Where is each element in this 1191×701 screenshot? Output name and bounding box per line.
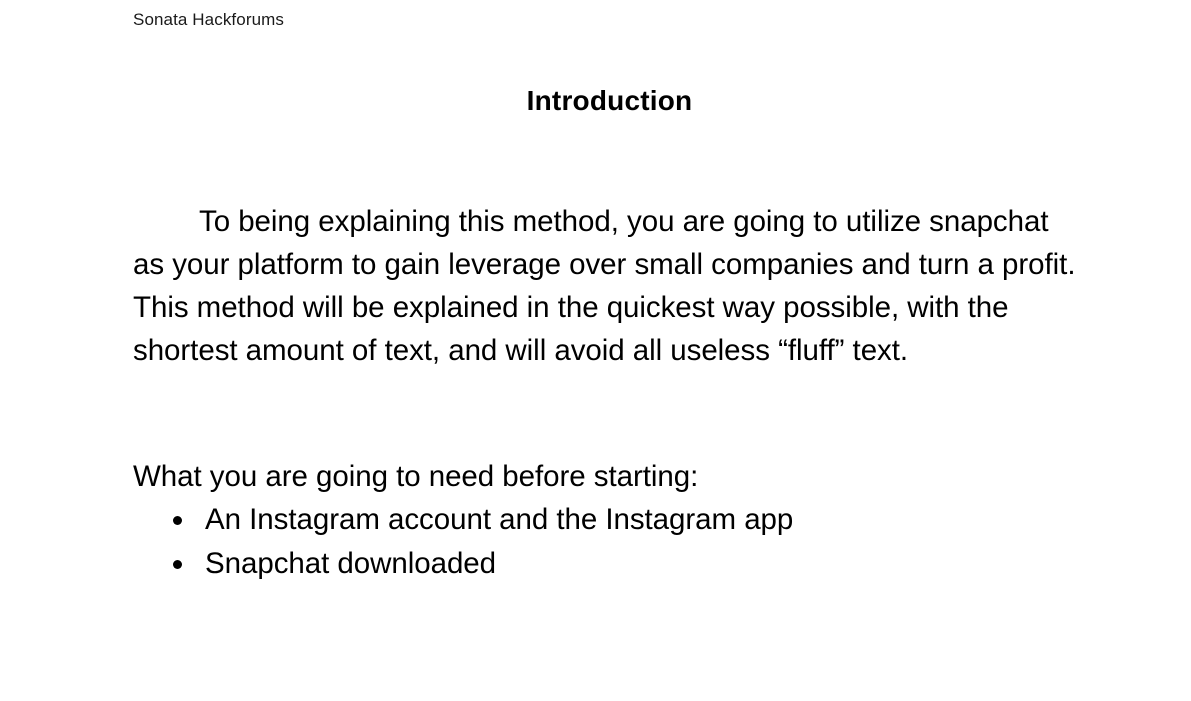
intro-paragraph: To being explaining this method, you are… (133, 200, 1078, 372)
list-item-label: An Instagram account and the Instagram a… (205, 503, 793, 536)
list-item-label: Snapchat downloaded (205, 547, 496, 580)
paragraph-spacer (133, 372, 1078, 415)
list-item: Snapchat downloaded (133, 542, 1078, 586)
running-header: Sonata Hackforums (133, 9, 284, 31)
document-page: Sonata Hackforums Introduction To being … (0, 0, 1191, 701)
requirements-lead-in: What you are going to need before starti… (133, 455, 1078, 498)
requirements-list: An Instagram account and the Instagram a… (133, 498, 1078, 586)
list-item: An Instagram account and the Instagram a… (133, 498, 1078, 542)
paragraph-spacer-secondary (133, 415, 1078, 455)
document-body: To being explaining this method, you are… (133, 200, 1078, 586)
page-title: Introduction (133, 83, 1086, 119)
